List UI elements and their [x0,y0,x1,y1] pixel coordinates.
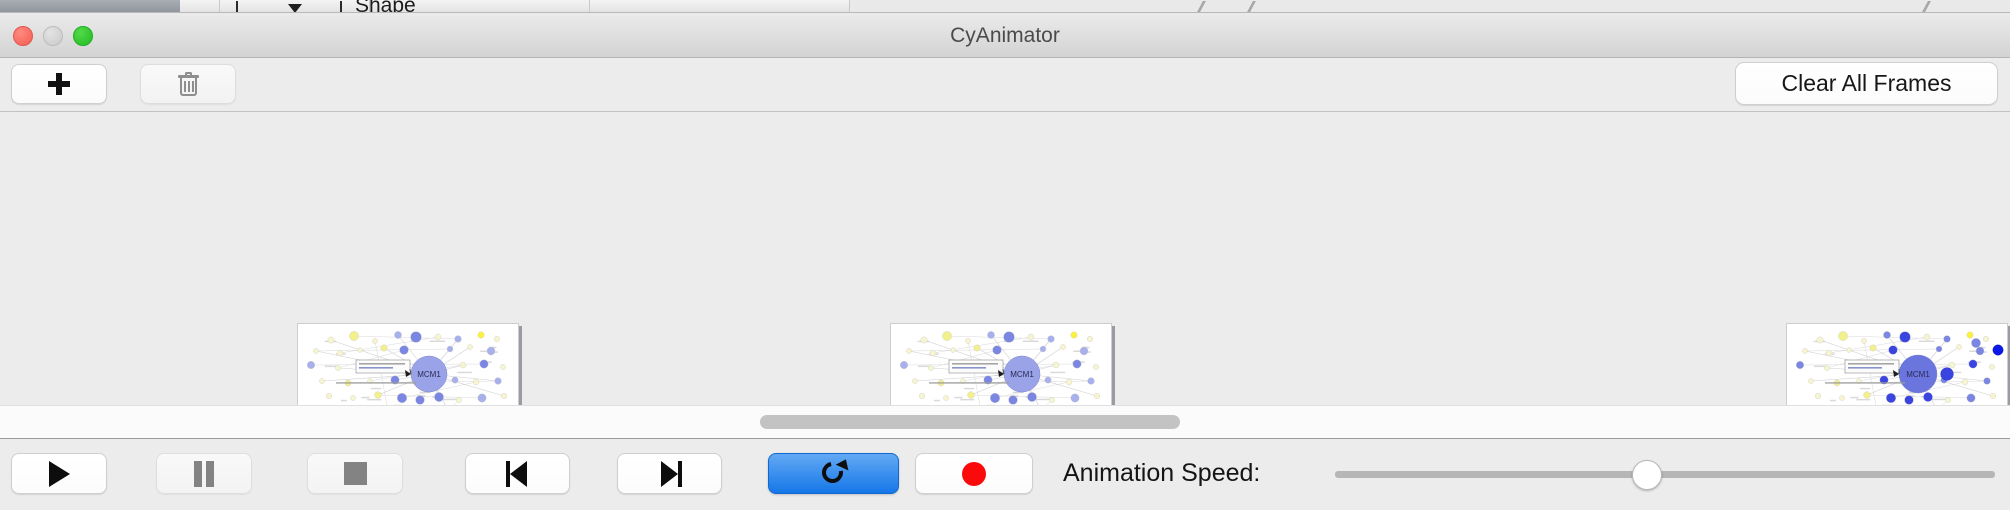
delete-frame-button[interactable] [140,64,236,104]
playback-controls-bar: Animation Speed: [0,440,2010,510]
window-titlebar[interactable]: CyAnimator [0,13,2010,58]
clear-all-frames-button[interactable]: Clear All Frames [1735,62,1998,105]
plus-icon [48,73,70,95]
frame-toolbar: Clear All Frames [0,58,2010,112]
loop-button[interactable] [768,453,899,494]
skip-forward-icon [657,461,683,487]
animation-speed-slider[interactable] [1335,453,1995,494]
animation-speed-label: Animation Speed: [1063,453,1260,494]
background-window-glyph [1922,1,1942,12]
cyanimator-window: Shape CyAnimator Clear All Frames [0,0,2010,510]
previous-frame-button[interactable] [465,453,570,494]
background-window-glyph [1197,1,1217,12]
frame-thumbnail-3[interactable]: MCM1 [1786,323,2008,405]
refresh-loop-icon [820,460,848,488]
play-icon [49,461,70,487]
stop-icon [344,462,367,485]
timeline-canvas[interactable]: Seconds MCM1 MCM1 [0,112,2010,405]
slider-thumb[interactable] [1632,460,1662,490]
record-button[interactable] [915,453,1033,494]
svg-text:MCM1: MCM1 [1906,370,1930,379]
window-title: CyAnimator [0,13,2010,58]
play-button[interactable] [11,453,107,494]
stop-button[interactable] [307,453,403,494]
timeline-scrollbar[interactable] [0,405,2010,439]
timeline-scrollbar-thumb[interactable] [760,415,1180,429]
background-window-strip: Shape [0,0,2010,13]
frame-thumbnail-2[interactable]: MCM1 [890,323,1112,405]
background-window-glyph [1247,1,1267,12]
skip-back-icon [505,461,531,487]
svg-text:MCM1: MCM1 [1010,370,1034,379]
record-dot-icon [962,462,986,486]
pause-icon [193,461,215,487]
pause-button[interactable] [156,453,252,494]
trash-icon [178,72,199,96]
slider-track[interactable] [1335,471,1995,478]
svg-text:MCM1: MCM1 [417,370,441,379]
clear-all-frames-label: Clear All Frames [1782,70,1952,97]
add-frame-button[interactable] [11,64,107,104]
frame-thumbnail-1[interactable]: MCM1 [297,323,519,405]
next-frame-button[interactable] [617,453,722,494]
